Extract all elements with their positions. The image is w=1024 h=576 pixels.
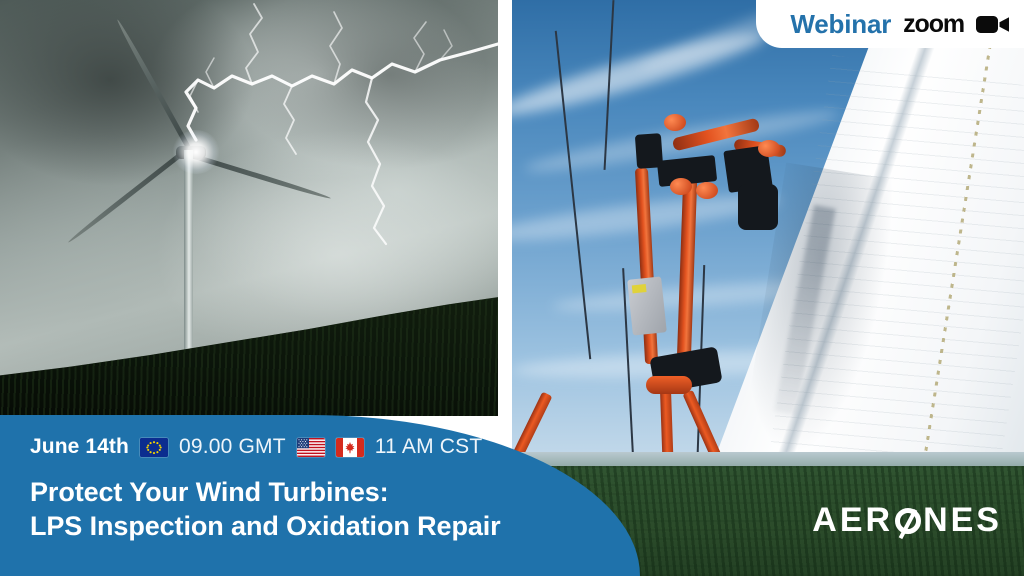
webinar-info-banner: June 14th 09.00 GMT [0, 415, 640, 576]
aerones-logo: AER NES [812, 501, 1002, 540]
webinar-label: Webinar [790, 9, 891, 40]
turbine-tower [184, 150, 193, 355]
robot-end-cap [696, 182, 718, 199]
robot-control-box [627, 276, 667, 335]
robot-end-cap [670, 178, 692, 195]
robot-gripper [738, 184, 778, 230]
us-flag-icon [297, 438, 325, 457]
robot-leg-hub [646, 376, 692, 394]
webinar-date: June 14th [30, 435, 129, 459]
lightning-strike-glow [172, 130, 220, 174]
webinar-promo-image: Webinar zoom June 14th [0, 0, 1024, 576]
webinar-platform-badge: Webinar zoom [756, 0, 1024, 48]
wind-turbine-lightning-photo [0, 0, 498, 416]
webinar-title: Protect Your Wind Turbines: LPS Inspecti… [30, 475, 590, 543]
webinar-title-line1: Protect Your Wind Turbines: [30, 475, 590, 509]
aerones-logo-text-after: NES [923, 501, 1002, 540]
time-gmt: 09.00 GMT [179, 435, 286, 459]
eu-flag-icon [140, 438, 168, 457]
aerones-slashed-o-icon [895, 508, 921, 534]
photo-divider [498, 0, 512, 416]
robot-end-cap [758, 140, 780, 157]
warning-sticker [632, 284, 647, 293]
zoom-brand-label: zoom [903, 10, 964, 39]
banner-content: June 14th 09.00 GMT [30, 435, 590, 543]
webinar-title-line2: LPS Inspection and Oxidation Repair [30, 509, 590, 543]
aerones-wordmark: AER NES [812, 501, 1002, 540]
aerones-logo-text-before: AER [812, 501, 893, 540]
robot-end-cap [664, 114, 686, 131]
video-camera-icon [976, 14, 1010, 35]
schedule-row: June 14th 09.00 GMT [30, 435, 590, 459]
time-cst: 11 AM CST [375, 435, 483, 459]
canada-flag-icon [336, 438, 364, 457]
